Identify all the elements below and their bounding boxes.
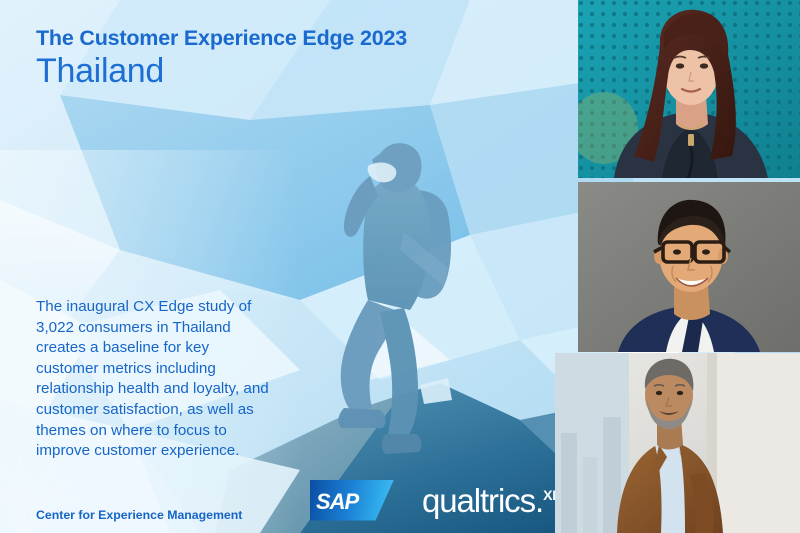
page-title: Thailand: [36, 52, 164, 91]
sap-logo: SAP: [310, 480, 394, 521]
qualtrics-logo: qualtrics.XM: [422, 484, 564, 517]
report-series-title: The Customer Experience Edge 2023: [36, 26, 407, 51]
portrait-man-brown-blazer: [555, 353, 800, 533]
sap-logo-wordmark: SAP: [316, 489, 358, 515]
portrait-photo-column: [555, 0, 800, 533]
text-column: The Customer Experience Edge 2023 Thaila…: [0, 0, 300, 533]
portrait-man-glasses-gray-background: [578, 182, 800, 352]
report-summary-text: The inaugural CX Edge study of 3,022 con…: [36, 297, 274, 462]
qualtrics-logo-wordmark: qualtrics.: [422, 482, 543, 519]
cx-edge-report-cover: The Customer Experience Edge 2023 Thaila…: [0, 0, 800, 533]
portrait-woman-teal-background: [578, 0, 800, 178]
logo-row: SAP qualtrics.XM: [310, 478, 564, 522]
center-for-experience-management-label: Center for Experience Management: [36, 508, 242, 522]
